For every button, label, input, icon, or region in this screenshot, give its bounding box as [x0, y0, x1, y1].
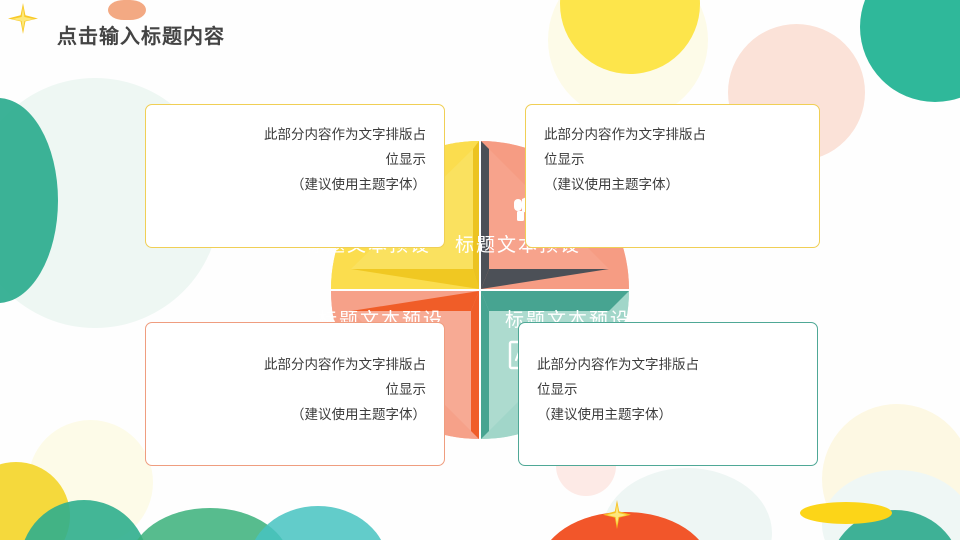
decor-circle-teal-bottomleft [20, 500, 148, 540]
decor-circle-cream-top [548, 0, 708, 120]
decor-circle-teal-topright [860, 0, 960, 102]
decor-circle-yellow-top [560, 0, 700, 74]
sparkle-icon [6, 2, 40, 36]
decor-circle-aqua-bottom [248, 506, 388, 540]
card-line-2: 位显示 [164, 148, 426, 173]
card-line-2: 位显示 [164, 378, 426, 403]
card-line-1: 此部分内容作为文字排版占 [164, 123, 426, 148]
decor-circle-teal-left [0, 98, 58, 303]
decor-circle-green-bottom [130, 508, 290, 540]
decor-block-teal-topright [938, 8, 960, 76]
card-line-2: 位显示 [537, 378, 799, 403]
card-line-1: 此部分内容作为文字排版占 [544, 123, 801, 148]
text-card-bottom-right[interactable]: 此部分内容作为文字排版占 位显示 （建议使用主题字体） [518, 322, 818, 466]
text-card-top-right[interactable]: 此部分内容作为文字排版占 位显示 （建议使用主题字体） [525, 104, 820, 248]
card-line-1: 此部分内容作为文字排版占 [537, 353, 799, 378]
decor-circle-orange-bottom [540, 512, 710, 540]
text-card-bottom-left[interactable]: 此部分内容作为文字排版占 位显示 （建议使用主题字体） [145, 322, 445, 466]
text-card-top-left-body: 此部分内容作为文字排版占 位显示 （建议使用主题字体） [164, 123, 426, 198]
slide-canvas: 点击输入标题内容 [0, 0, 960, 540]
text-card-bottom-left-body: 此部分内容作为文字排版占 位显示 （建议使用主题字体） [164, 353, 426, 428]
text-card-bottom-right-body: 此部分内容作为文字排版占 位显示 （建议使用主题字体） [537, 353, 799, 428]
sparkle-icon [600, 498, 634, 532]
decor-circle-cream-right [822, 404, 960, 540]
text-card-top-right-body: 此部分内容作为文字排版占 位显示 （建议使用主题字体） [544, 123, 801, 198]
decor-circle-teal-bottomright [830, 510, 960, 540]
decor-circle-cream-bottomleft [28, 420, 153, 540]
decor-blob-salmon-top [108, 0, 146, 20]
decor-circle-pale-bottom [602, 468, 772, 540]
card-line-1: 此部分内容作为文字排版占 [164, 353, 426, 378]
page-title: 点击输入标题内容 [57, 20, 225, 49]
decor-circle-yellow-bottomleft [0, 462, 70, 540]
card-line-3: （建议使用主题字体） [537, 403, 799, 428]
decor-circle-pale-bottomright [822, 470, 960, 540]
decor-lens-yellow-bottom [800, 502, 892, 524]
card-line-3: （建议使用主题字体） [164, 403, 426, 428]
card-line-2: 位显示 [544, 148, 801, 173]
text-card-top-left[interactable]: 此部分内容作为文字排版占 位显示 （建议使用主题字体） [145, 104, 445, 248]
card-line-3: （建议使用主题字体） [544, 173, 801, 198]
card-line-3: （建议使用主题字体） [164, 173, 426, 198]
